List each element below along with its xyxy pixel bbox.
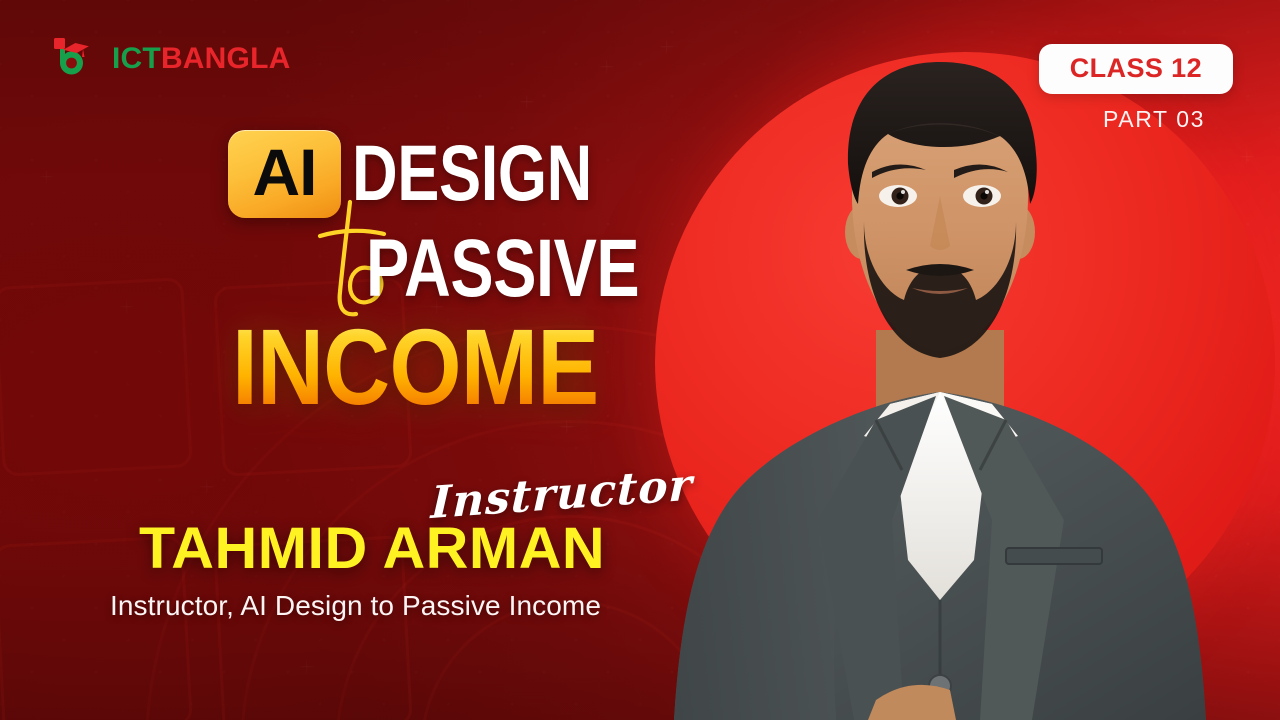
- thumbnail-canvas: ICTBANGLA CLASS 12 PART 03 AI DESIGN to: [0, 0, 1280, 720]
- part-label: PART 03: [1103, 106, 1205, 133]
- headline-block: AI DESIGN to PASSIVE INCOME: [0, 0, 660, 470]
- headline-word-design: DESIGN: [352, 133, 592, 212]
- instructor-subtitle: Instructor, AI Design to Passive Income: [110, 589, 601, 623]
- headline-word-passive: PASSIVE: [366, 228, 639, 310]
- ai-chip: AI: [228, 130, 341, 218]
- ai-chip-label: AI: [253, 139, 317, 205]
- headline-word-income: INCOME: [232, 313, 598, 421]
- class-badge[interactable]: CLASS 12: [1039, 44, 1233, 94]
- instructor-name: TAHMID ARMAN: [139, 520, 605, 578]
